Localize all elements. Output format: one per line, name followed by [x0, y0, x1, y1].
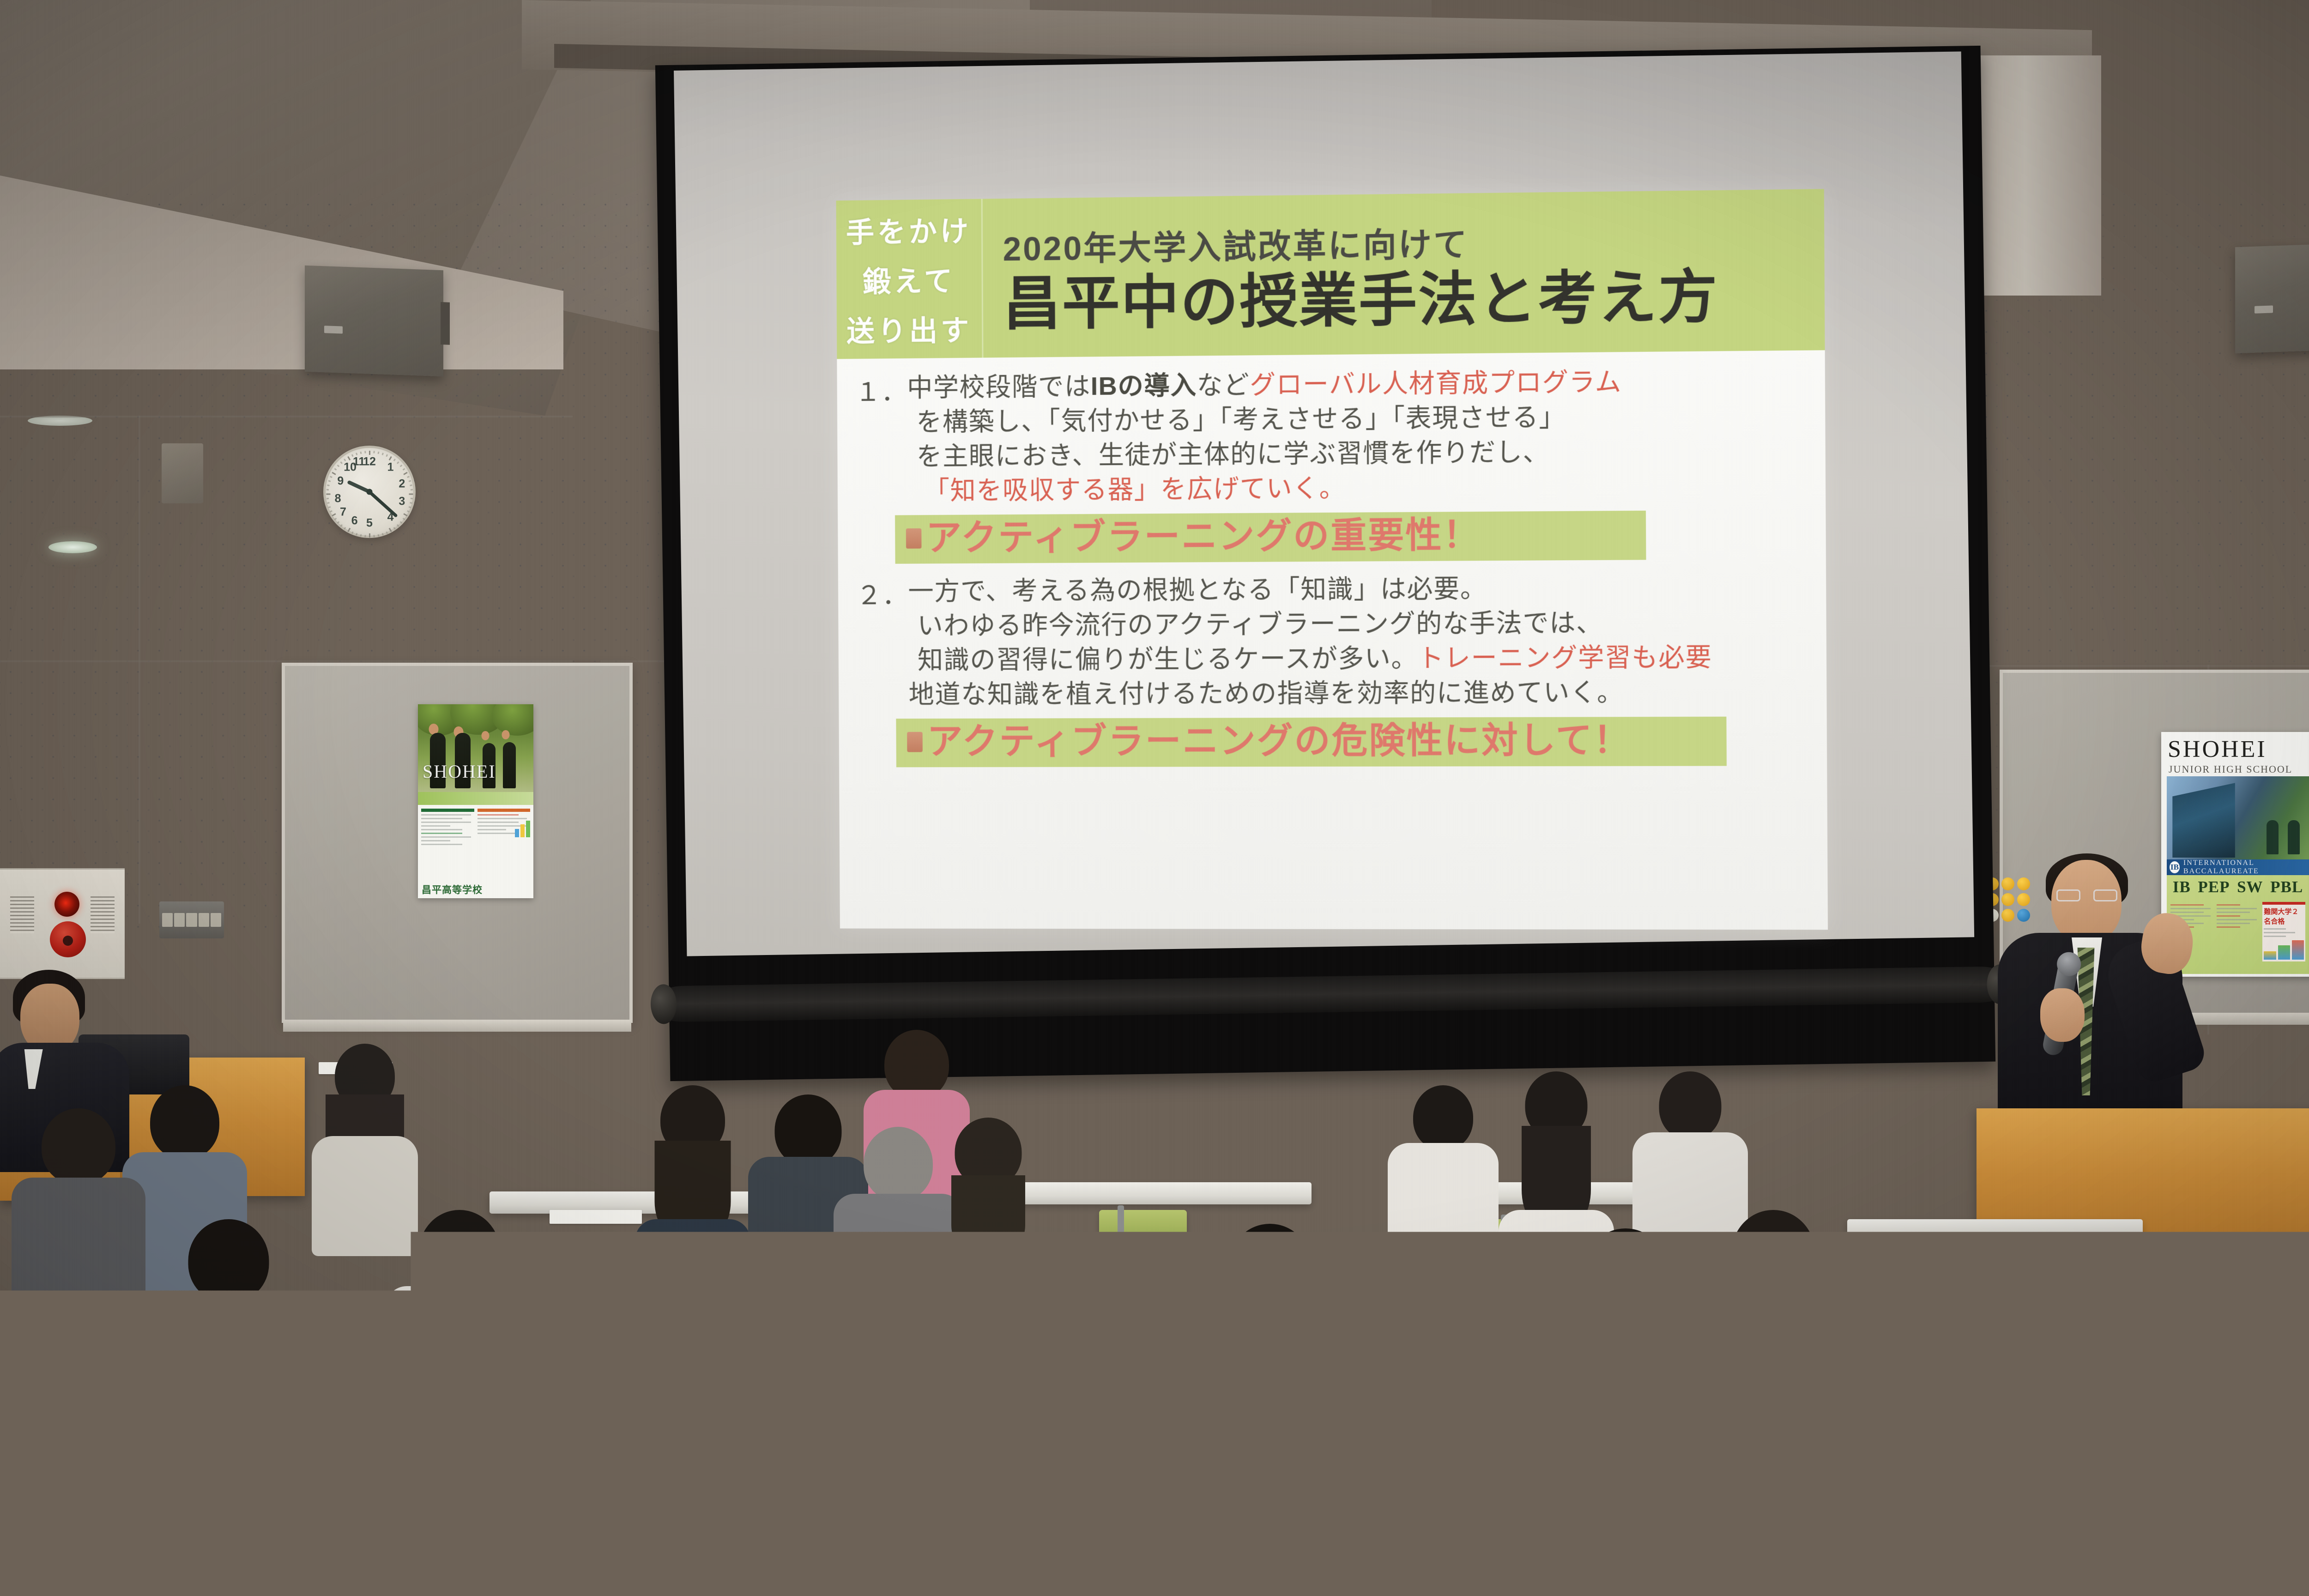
attendee-head — [670, 1247, 753, 1332]
attendee-head — [1584, 1228, 1667, 1314]
table — [1958, 1284, 2281, 1309]
attendee-head — [1659, 1071, 1722, 1140]
attendee-head — [295, 1358, 394, 1459]
attendee-body — [12, 1178, 145, 1325]
attendee-body — [1940, 1489, 2134, 1596]
attendee — [517, 1395, 656, 1596]
chair-leg — [1118, 1205, 1124, 1251]
lecture-hall-photo: 12 1 2 3 4 5 6 7 8 9 10 11 — [0, 0, 2309, 1596]
backpack — [642, 1436, 711, 1487]
attendee-body — [1480, 1505, 1669, 1596]
attendee-body — [1028, 1496, 1217, 1596]
attendee-head — [1455, 1238, 1538, 1323]
attendee — [28, 1108, 129, 1307]
attendee-head — [536, 1395, 637, 1499]
attendee — [647, 1085, 739, 1270]
attendee-head — [150, 1085, 219, 1159]
attendee-head — [864, 1127, 933, 1201]
attendee-head — [703, 1524, 821, 1596]
attendee — [1505, 1409, 1644, 1596]
attendee — [1215, 1224, 1325, 1445]
attendee-head — [1238, 1510, 1358, 1596]
attendee — [1219, 1510, 1376, 1596]
attendee-head — [1983, 1390, 2090, 1499]
attendee — [65, 1519, 217, 1596]
attendee-body — [254, 1450, 434, 1596]
attendee — [175, 1219, 282, 1436]
attendee-head — [188, 1219, 269, 1302]
attendee — [277, 1358, 411, 1596]
attendee-head — [1348, 1376, 1451, 1482]
attendee-body — [312, 1136, 418, 1256]
pencil-case — [1893, 1256, 1949, 1277]
attendee-body — [494, 1489, 679, 1596]
attendee-head — [42, 1108, 115, 1185]
attendee-head — [1070, 1399, 1174, 1505]
attendee-head — [775, 1094, 842, 1166]
attendee — [1967, 1390, 2106, 1596]
chair — [1099, 1210, 1187, 1235]
attendee — [683, 1524, 840, 1596]
handbag — [979, 1298, 1053, 1339]
paper-handout[interactable] — [550, 1210, 642, 1224]
attendee — [319, 1044, 411, 1228]
attendee-head — [72, 1330, 169, 1429]
attendee-head — [2127, 1330, 2237, 1443]
table — [1847, 1219, 2143, 1241]
attendee — [1792, 1256, 1903, 1478]
notebook — [1889, 1413, 1967, 1432]
attendee-head — [1523, 1409, 1627, 1515]
attendee-head — [83, 1519, 199, 1596]
attendee-head — [1228, 1224, 1312, 1309]
attendee-head — [1806, 1256, 1889, 1342]
attendee-head — [884, 1030, 949, 1099]
chair — [2013, 1321, 2110, 1348]
attendee — [1053, 1399, 1191, 1596]
table — [1016, 1182, 1312, 1204]
attendee-head — [1413, 1085, 1473, 1150]
paper-handout[interactable] — [1681, 1524, 1810, 1542]
